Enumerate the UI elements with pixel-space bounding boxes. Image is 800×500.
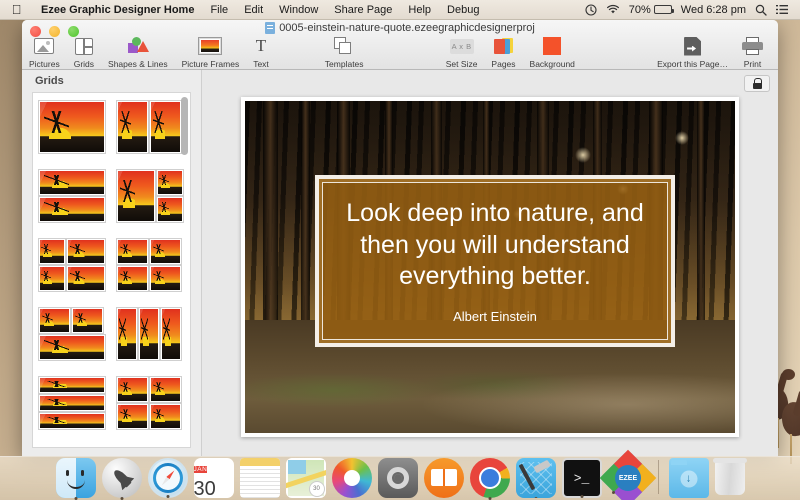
set-size-icon-text: A x B xyxy=(450,39,474,54)
window-body: Grids xyxy=(22,70,778,456)
grid-template-two-top-one-bottom[interactable] xyxy=(39,308,106,364)
battery-status[interactable]: 70% xyxy=(629,4,672,16)
window-title-bar: 0005-einstein-nature-quote.ezeegraphicde… xyxy=(22,22,778,34)
set-size-icon: A x B xyxy=(450,36,474,56)
grid-template-row xyxy=(39,170,184,226)
toolbar-shapes-lines-label: Shapes & Lines xyxy=(108,59,168,69)
dock-separator xyxy=(658,460,659,494)
dock-item-ibooks[interactable] xyxy=(424,458,464,498)
menu-bar-clock[interactable]: Wed 6:28 pm xyxy=(681,4,746,16)
notification-center-icon[interactable] xyxy=(776,4,788,15)
export-icon xyxy=(684,36,701,56)
apple-logo-icon[interactable]:  xyxy=(10,3,23,16)
print-icon xyxy=(742,36,763,56)
toolbar-set-size-label: Set Size xyxy=(446,59,478,69)
quote-text: Look deep into nature, and then you will… xyxy=(335,198,655,293)
grid-template-three-vertical[interactable] xyxy=(117,308,184,364)
sidebar-header: Grids xyxy=(22,70,201,92)
grid-template-row xyxy=(39,308,184,364)
toolbar-grids-button[interactable]: Grids xyxy=(67,36,101,69)
background-icon xyxy=(543,36,561,56)
toolbar-background-label: Background xyxy=(530,59,575,69)
search-icon[interactable] xyxy=(755,4,767,16)
menu-bar:  Ezee Graphic Designer Home File Edit W… xyxy=(0,0,800,20)
sidebar-scroll-area[interactable] xyxy=(32,92,191,448)
sidebar-scrollbar[interactable] xyxy=(181,97,188,155)
grid-template-row xyxy=(39,377,184,433)
toolbar-shapes-lines-button[interactable]: Shapes & Lines xyxy=(101,36,175,69)
toolbar-templates-label: Templates xyxy=(325,59,364,69)
lock-button[interactable] xyxy=(744,75,770,92)
templates-icon xyxy=(334,36,354,56)
dock-item-downloads[interactable]: ↓ xyxy=(669,458,709,498)
toolbar-print-button[interactable]: Print xyxy=(735,36,770,69)
grid-template-two-top-two-bottom[interactable] xyxy=(39,239,106,295)
grid-template-row xyxy=(39,101,184,157)
toolbar-pages-button[interactable]: Pages xyxy=(484,36,522,69)
document-title: 0005-einstein-nature-quote.ezeegraphicde… xyxy=(279,22,535,34)
lock-icon xyxy=(753,78,762,89)
toolbar-export-label: Export this Page… xyxy=(657,59,728,69)
menu-file[interactable]: File xyxy=(202,4,236,16)
app-window: 0005-einstein-nature-quote.ezeegraphicde… xyxy=(22,20,778,456)
toolbar-set-size-button[interactable]: A x B Set Size xyxy=(439,36,485,69)
terminal-prompt-glyph: >_ xyxy=(574,471,590,486)
toolbar-text-button[interactable]: T Text xyxy=(246,36,276,69)
grids-icon xyxy=(75,36,93,56)
shapes-lines-icon xyxy=(127,36,149,56)
menu-bar-status-area: 70% Wed 6:28 pm xyxy=(585,4,792,16)
window-toolbar: 0005-einstein-nature-quote.ezeegraphicde… xyxy=(22,20,778,70)
dock-item-launchpad[interactable] xyxy=(102,458,142,498)
toolbar-items: Pictures Grids Shapes & Lines Picture Fr… xyxy=(22,36,778,70)
toolbar-export-button[interactable]: Export this Page… xyxy=(650,36,735,69)
dock-item-safari[interactable] xyxy=(148,458,188,498)
dock-item-system-preferences[interactable] xyxy=(378,458,418,498)
toolbar-print-label: Print xyxy=(744,59,761,69)
grid-template-single-full[interactable] xyxy=(39,101,106,157)
toolbar-background-button[interactable]: Background xyxy=(523,36,582,69)
menu-help[interactable]: Help xyxy=(400,4,439,16)
canvas-pane: Look deep into nature, and then you will… xyxy=(202,70,778,456)
grid-template-one-left-two-right[interactable] xyxy=(117,170,184,226)
maps-compass-label: 30 xyxy=(309,481,325,497)
menu-app-name[interactable]: Ezee Graphic Designer Home xyxy=(33,4,202,16)
dock-item-xcode[interactable] xyxy=(516,458,556,498)
grid-template-two-vertical[interactable] xyxy=(117,101,184,157)
toolbar-templates-button[interactable]: Templates xyxy=(318,36,371,69)
calendar-day-label: 30 xyxy=(194,478,216,498)
dock-item-maps[interactable]: 30 xyxy=(286,458,326,498)
dock: JAN 30 30 >_ EZEE ↓ xyxy=(0,456,800,500)
text-icon: T xyxy=(256,36,266,56)
grid-template-three-horizontal[interactable] xyxy=(39,377,106,433)
quote-box[interactable]: Look deep into nature, and then you will… xyxy=(315,175,675,347)
document-icon xyxy=(265,22,275,34)
grid-template-two-by-two[interactable] xyxy=(117,239,184,295)
menu-edit[interactable]: Edit xyxy=(236,4,271,16)
grid-template-two-by-two-b[interactable] xyxy=(117,377,184,433)
toolbar-grids-label: Grids xyxy=(74,59,94,69)
ezee-logo-text: EZEE xyxy=(615,465,641,491)
dock-item-calendar[interactable]: JAN 30 xyxy=(194,458,234,498)
battery-icon xyxy=(654,5,672,14)
calendar-month-label: JAN xyxy=(194,466,208,473)
pictures-icon xyxy=(34,36,54,56)
wifi-icon[interactable] xyxy=(606,4,620,15)
toolbar-picture-frames-button[interactable]: Picture Frames xyxy=(175,36,247,69)
grid-template-two-horizontal[interactable] xyxy=(39,170,106,226)
dock-item-trash[interactable] xyxy=(715,461,745,495)
design-canvas[interactable]: Look deep into nature, and then you will… xyxy=(241,97,739,437)
grids-sidebar: Grids xyxy=(22,70,202,456)
dock-item-ezee-graphic-designer[interactable]: EZEE xyxy=(599,450,656,500)
menu-debug[interactable]: Debug xyxy=(439,4,487,16)
download-arrow-icon: ↓ xyxy=(680,470,697,487)
dock-item-finder[interactable] xyxy=(56,458,96,498)
toolbar-pages-label: Pages xyxy=(491,59,515,69)
dock-item-terminal[interactable]: >_ xyxy=(562,458,602,498)
menu-share-page[interactable]: Share Page xyxy=(326,4,400,16)
toolbar-pictures-label: Pictures xyxy=(29,59,60,69)
dock-item-chrome[interactable] xyxy=(470,458,510,498)
toolbar-text-label: Text xyxy=(253,59,269,69)
picture-frames-icon xyxy=(199,36,221,56)
menu-window[interactable]: Window xyxy=(271,4,326,16)
battery-percent-label: 70% xyxy=(629,4,651,16)
time-machine-icon[interactable] xyxy=(585,4,597,16)
dock-item-photos[interactable] xyxy=(332,458,372,498)
toolbar-pictures-button[interactable]: Pictures xyxy=(22,36,67,69)
pages-icon xyxy=(494,36,513,56)
grid-template-row xyxy=(39,239,184,295)
quote-author: Albert Einstein xyxy=(453,309,537,324)
dock-item-notes[interactable] xyxy=(240,458,280,498)
toolbar-picture-frames-label: Picture Frames xyxy=(182,59,240,69)
